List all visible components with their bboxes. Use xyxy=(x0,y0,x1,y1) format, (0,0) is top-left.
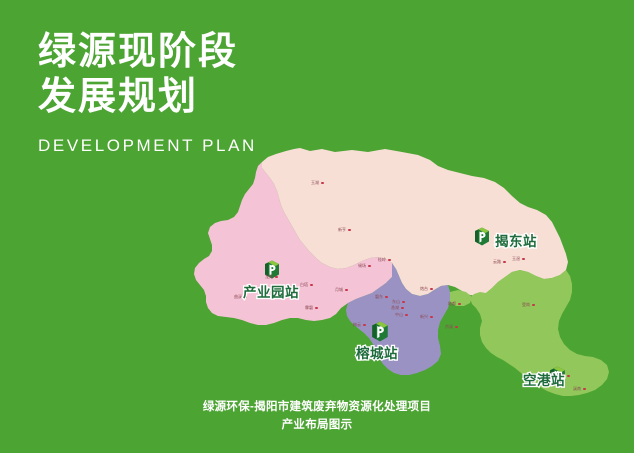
city-dot-icon xyxy=(430,288,433,291)
city-dot-icon xyxy=(385,296,388,299)
city-dot-icon xyxy=(402,301,405,304)
city-dot-icon xyxy=(522,258,525,261)
city-dot-icon xyxy=(310,284,313,287)
city-dot-icon xyxy=(368,265,371,268)
city-dot-icon xyxy=(455,326,458,329)
city-label-text: 中山 xyxy=(395,313,403,317)
city-label-text: 云路 xyxy=(493,260,501,264)
city-label: 登岗 xyxy=(522,303,535,307)
city-label-text: 炮台 xyxy=(420,287,428,291)
city-label: 地都 xyxy=(448,302,461,306)
city-dot-icon xyxy=(315,307,318,310)
title-line-2: 发展规划 xyxy=(38,75,257,120)
city-dot-icon xyxy=(583,388,586,391)
caption-block: 绿源环保-揭阳市建筑废弃物资源化处理项目 产业布局图示 xyxy=(0,399,634,435)
city-label-text: 新兴 xyxy=(420,315,428,319)
city-label-text: 桂岭 xyxy=(378,258,386,262)
city-label: 京溪 xyxy=(445,325,458,329)
city-label: 霖磐 xyxy=(305,306,318,310)
city-dot-icon xyxy=(363,324,366,327)
city-label-text: 月城 xyxy=(335,288,343,292)
city-label-text: 京溪 xyxy=(445,325,453,329)
city-label: 磐东 xyxy=(375,295,388,299)
city-dot-icon xyxy=(430,316,433,319)
station-marker-industrial-park[interactable]: 产业园站 xyxy=(243,281,299,301)
city-label: 中山 xyxy=(395,313,408,317)
city-label: 梅云 xyxy=(353,323,366,327)
city-label: 月城 xyxy=(335,288,348,292)
station-label-rongcheng: 榕城站 xyxy=(356,342,398,362)
city-label-text: 磐东 xyxy=(375,295,383,299)
city-dot-icon xyxy=(348,229,351,232)
city-dot-icon xyxy=(275,276,278,279)
city-label: 东山 xyxy=(392,300,405,304)
city-dot-icon xyxy=(532,304,535,307)
caption-line-1: 绿源环保-揭阳市建筑废弃物资源化处理项目 xyxy=(0,399,634,417)
slide-canvas: 绿源现阶段 发展规划 DEVELOPMENT PLAN xyxy=(0,0,634,453)
city-dot-icon xyxy=(458,303,461,306)
city-label: 溪南 xyxy=(573,387,586,391)
city-label-text: 渔湖 xyxy=(391,306,399,310)
city-label: 炮台 xyxy=(420,287,433,291)
city-label-text: 锡场 xyxy=(358,264,366,268)
city-label: 白塔 xyxy=(300,283,313,287)
title-line-1: 绿源现阶段 xyxy=(38,30,257,75)
city-label: 锡场 xyxy=(358,264,371,268)
city-label: 云路 xyxy=(493,260,506,264)
city-dot-icon xyxy=(503,261,506,264)
city-label-text: 白塔 xyxy=(300,283,308,287)
city-label: 龙尾 xyxy=(265,275,278,279)
station-marker-rongcheng[interactable]: 榕城站 xyxy=(356,342,398,362)
city-label-text: 登岗 xyxy=(522,303,530,307)
city-label-text: 霖磐 xyxy=(305,306,313,310)
station-label-industrial-park: 产业园站 xyxy=(243,281,299,301)
city-label-text: 地都 xyxy=(448,302,456,306)
city-label-text: 玉滘 xyxy=(512,257,520,261)
city-dot-icon xyxy=(405,314,408,317)
city-label: 渔湖 xyxy=(391,306,404,310)
city-label-text: 曲溪 xyxy=(234,295,242,299)
caption-line-2: 产业布局图示 xyxy=(0,417,634,435)
city-label-text: 溪南 xyxy=(573,387,581,391)
city-dot-icon xyxy=(321,182,324,185)
city-dot-icon xyxy=(345,289,348,292)
subtitle-development-plan: DEVELOPMENT PLAN xyxy=(38,136,257,156)
city-label: 新亨 xyxy=(338,228,351,232)
station-marker-airport[interactable]: 空港站 xyxy=(523,369,565,389)
city-label: 玉湖 xyxy=(311,181,324,185)
city-dot-icon xyxy=(388,259,391,262)
city-label-text: 新亨 xyxy=(338,228,346,232)
city-dot-icon xyxy=(401,307,404,310)
city-label: 新兴 xyxy=(420,315,433,319)
city-label-text: 梅云 xyxy=(353,323,361,327)
city-dot-icon xyxy=(567,375,570,378)
city-label-text: 龙尾 xyxy=(265,275,273,279)
city-label-text: 东山 xyxy=(392,300,400,304)
city-label: 玉滘 xyxy=(512,257,525,261)
station-label-airport: 空港站 xyxy=(523,369,565,389)
title-block: 绿源现阶段 发展规划 DEVELOPMENT PLAN xyxy=(38,30,257,156)
city-label: 桂岭 xyxy=(378,258,391,262)
station-label-jiedong: 揭东站 xyxy=(495,230,537,250)
city-label-text: 玉湖 xyxy=(311,181,319,185)
station-marker-jiedong[interactable]: 揭东站 xyxy=(495,230,537,250)
